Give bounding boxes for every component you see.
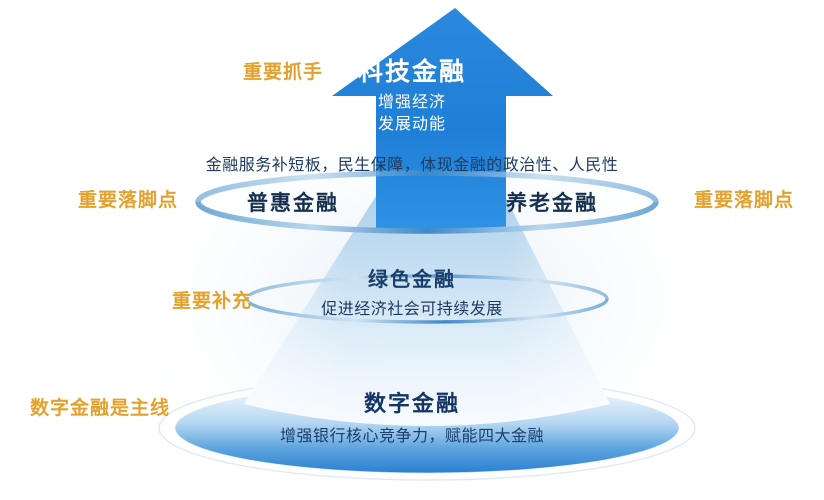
label-important-foothold-left: 重要落脚点 [78, 185, 178, 212]
arrow-title-tech-finance: 科技金融 [0, 52, 824, 88]
arrow-subtitle-line2: 发展动能 [0, 110, 824, 134]
tier3-title-digital-finance: 数字金融 [0, 386, 824, 418]
arrow-subtitle-line1: 增强经济 [0, 88, 824, 112]
tier1-title-inclusive-finance: 普惠金融 [247, 187, 339, 217]
diagram-canvas: 重要抓手 重要落脚点 重要落脚点 重要补充 数字金融是主线 科技金融 增强经济 … [0, 0, 824, 500]
tier2-title-green-finance: 绿色金融 [0, 263, 824, 292]
label-important-foothold-right: 重要落脚点 [694, 185, 794, 212]
tier1-description: 金融服务补短板，民生保障，体现金融的政治性、人民性 [0, 151, 824, 175]
tier1-title-pension-finance: 养老金融 [506, 187, 598, 217]
tier3-description: 增强银行核心竞争力，赋能四大金融 [0, 422, 824, 446]
tier2-description: 促进经济社会可持续发展 [0, 295, 824, 319]
